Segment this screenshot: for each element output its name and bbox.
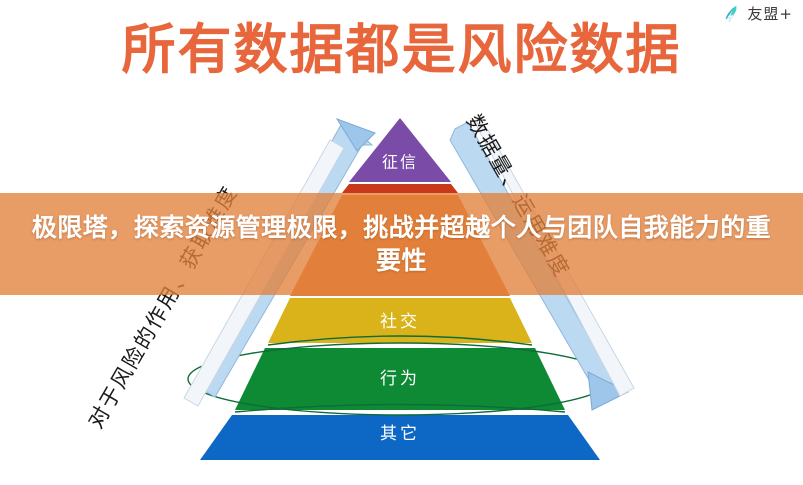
brand-name: 友盟+ (747, 7, 793, 22)
pyramid-label-social: 社交 (380, 312, 420, 332)
brand-logo: 友盟+ (723, 4, 793, 24)
pyramid-label-credit: 征信 (382, 153, 418, 172)
pyramid-label-other: 其它 (380, 424, 420, 444)
caption-overlay-band: 极限塔，探索资源管理极限，挑战并超越个人与团队自我能力的重要性 (0, 193, 803, 295)
pyramid-label-behavior: 行为 (380, 369, 420, 389)
lightning-leaf-icon (723, 4, 743, 24)
page-title: 所有数据都是风险数据 (0, 20, 803, 79)
caption-text: 极限塔，探索资源管理极限，挑战并超越个人与团队自我能力的重要性 (32, 211, 772, 277)
pyramid-layer-credit (349, 118, 451, 182)
caption-line-1: 极限塔，探索资源管理极限，挑战并超越个人 (32, 213, 542, 242)
pyramid-layer-red (342, 184, 458, 193)
screenshot-root: 征信 社交 行为 其它 对于风险的作用、获取难度 数据量、运用难度 所有数据都是… (0, 0, 803, 485)
